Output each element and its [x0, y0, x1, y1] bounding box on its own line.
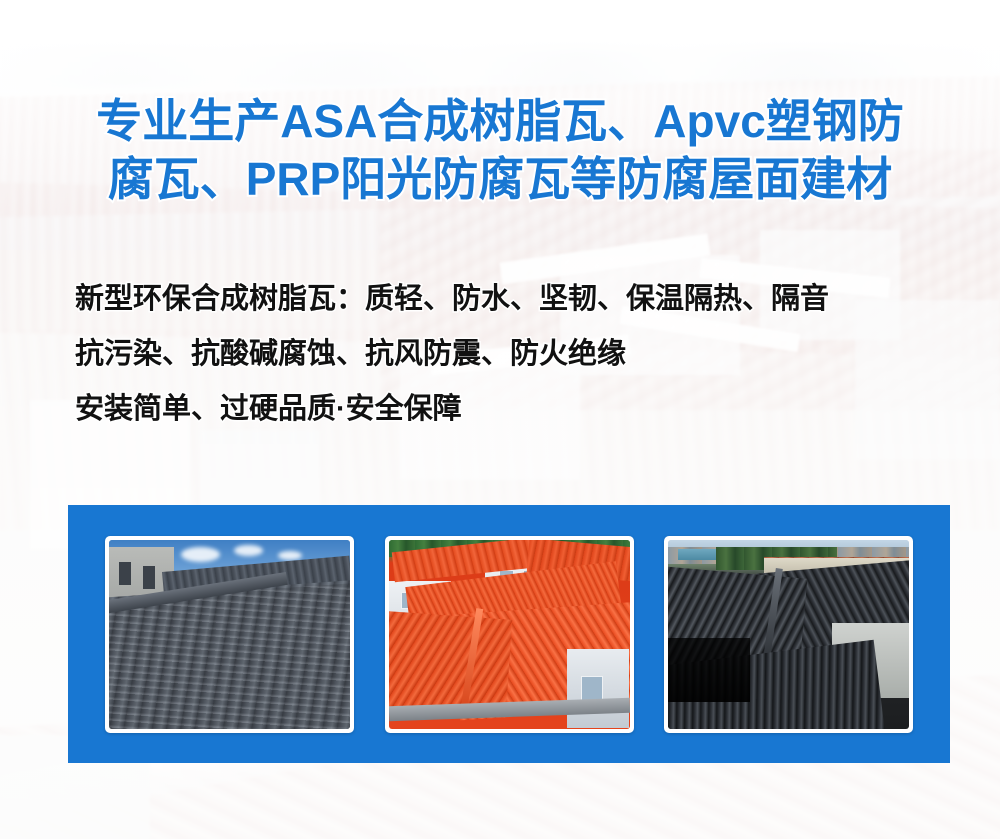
headline-line-2: 腐瓦、PRP阳光防腐瓦等防腐屋面建材 [0, 150, 1000, 208]
grey-roof-image [109, 540, 350, 729]
photo-gallery-panel [68, 505, 950, 763]
grey-resin-tile-roof-photo[interactable] [105, 536, 354, 733]
black-roof-shadow-area [668, 638, 750, 702]
cloud-icon [181, 547, 220, 562]
black-roof-image [668, 540, 909, 729]
headline: 专业生产ASA合成树脂瓦、Apvc塑钢防 腐瓦、PRP阳光防腐瓦等防腐屋面建材 [0, 92, 1000, 208]
subtitle-line-3: 安装简单、过硬品质·安全保障 [75, 382, 955, 437]
subtitle-line-2: 抗污染、抗酸碱腐蚀、抗风防震、防火绝缘 [75, 327, 955, 382]
cloud-icon [278, 551, 302, 560]
black-resin-tile-roof-photo[interactable] [664, 536, 913, 733]
product-banner: 专业生产ASA合成树脂瓦、Apvc塑钢防 腐瓦、PRP阳光防腐瓦等防腐屋面建材 … [0, 0, 1000, 839]
headline-line-1: 专业生产ASA合成树脂瓦、Apvc塑钢防 [0, 92, 1000, 150]
red-resin-tile-roof-photo[interactable] [385, 536, 634, 733]
window [143, 566, 155, 589]
red-roof-image [389, 540, 630, 729]
subtitle-block: 新型环保合成树脂瓦：质轻、防水、坚韧、保温隔热、隔音 抗污染、抗酸碱腐蚀、抗风防… [75, 272, 955, 437]
subtitle-line-1: 新型环保合成树脂瓦：质轻、防水、坚韧、保温隔热、隔音 [75, 272, 955, 327]
window [119, 562, 131, 585]
